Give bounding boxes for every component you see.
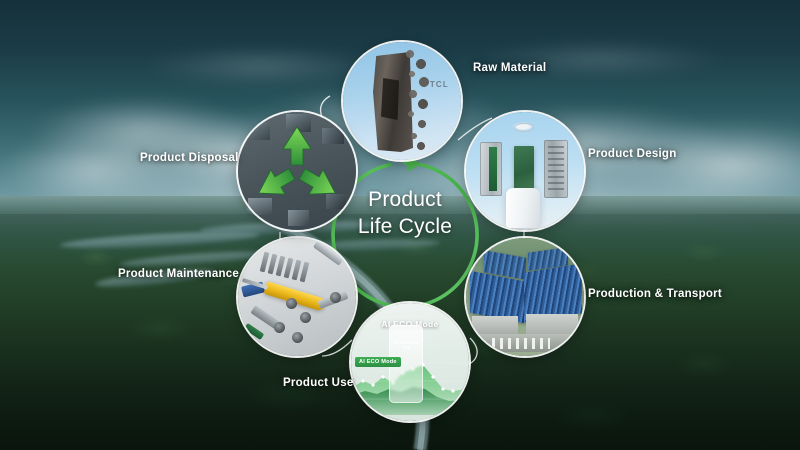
stage-circle-product-design[interactable]: [466, 112, 584, 230]
stage-label-product-use: Product Use: [283, 377, 354, 389]
product-design-image: [466, 112, 584, 230]
recycling-symbol-icon: [247, 121, 347, 221]
stage-label-product-disposal: Product Disposal: [140, 152, 239, 164]
parking-lot: [474, 334, 574, 352]
stage-label-product-design: Product Design: [588, 148, 676, 160]
left-component-shape: [480, 142, 502, 196]
crumbling-fragments: [405, 48, 435, 156]
socket-bit: [274, 322, 285, 333]
stage-circle-product-use[interactable]: AI ECO Mode ECO Mode ON AI ECO Mode: [351, 303, 469, 421]
drill-bit: [300, 262, 310, 283]
stage-circle-raw-material[interactable]: TCL: [343, 42, 461, 160]
eco-mode-badge: AI ECO Mode: [355, 357, 401, 367]
stage-circle-product-maintenance[interactable]: [238, 238, 356, 356]
factory-building: [472, 316, 518, 334]
socket-bit: [292, 332, 303, 343]
production-transport-image: [466, 238, 584, 356]
stage-label-production-transport: Production & Transport: [588, 288, 722, 300]
stage-circle-production-transport[interactable]: [466, 238, 584, 356]
pliers-handle: [244, 323, 264, 340]
appliance-body-shape: [506, 188, 540, 228]
infographic-canvas: Product Life Cycle TCL Raw Material Prod…: [0, 0, 800, 450]
right-component-shape: [544, 140, 568, 198]
factory-building: [526, 314, 578, 336]
ring-tail: [387, 163, 391, 167]
wrench: [313, 241, 343, 265]
stage-label-raw-material: Raw Material: [473, 62, 546, 74]
raw-material-image: TCL: [343, 42, 461, 160]
eco-mode-glass-label: ECO Mode ON: [391, 341, 421, 351]
product-use-image: AI ECO Mode ECO Mode ON AI ECO Mode: [351, 303, 469, 421]
fan-module-shape: [508, 120, 538, 133]
stage-circle-product-disposal[interactable]: [238, 112, 356, 230]
product-disposal-image: [238, 112, 356, 230]
product-maintenance-image: [238, 238, 356, 356]
socket-bit: [330, 292, 341, 303]
tcl-watermark: TCL: [430, 80, 449, 89]
socket-bit: [286, 298, 297, 309]
socket-bit: [300, 312, 311, 323]
center-panel-shape: [514, 146, 534, 194]
stage-label-product-maintenance: Product Maintenance: [118, 268, 239, 280]
